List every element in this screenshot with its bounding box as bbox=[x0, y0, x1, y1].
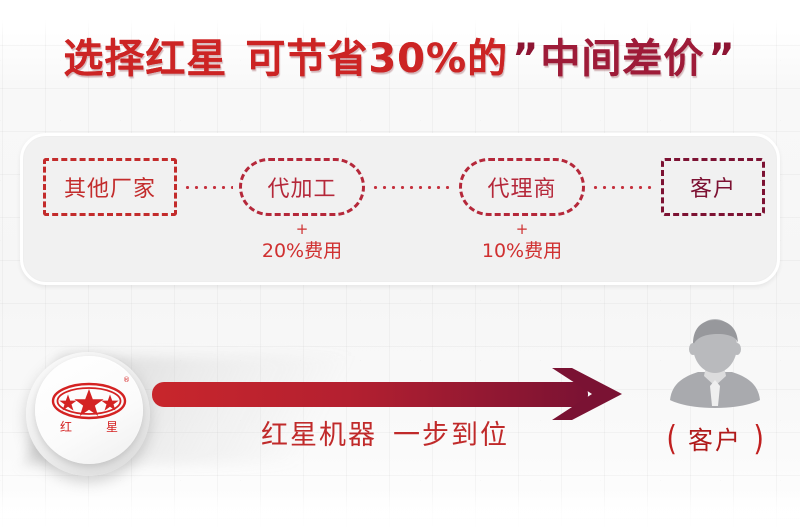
flow-node-label: 代加工 bbox=[267, 171, 336, 203]
quote-open-mark: ” bbox=[508, 36, 540, 82]
fee-amount: 20%费用 bbox=[262, 240, 342, 262]
logo-char-left: 红 bbox=[60, 419, 72, 434]
flow-node-end-customer: 客户 bbox=[661, 158, 765, 216]
headline-part2: 可节省30%的 bbox=[245, 39, 508, 79]
flow-connector-3 bbox=[591, 186, 655, 189]
page-title: 选择红星 可节省30%的 ” 中间差价 ” bbox=[0, 28, 800, 90]
flow-connector-2 bbox=[371, 186, 453, 189]
brand-tagline: 红星机器 一步到位 bbox=[150, 412, 620, 452]
customer-avatar-icon bbox=[660, 316, 770, 420]
flow-node-label: 客户 bbox=[690, 171, 736, 203]
customer-label: 客户 bbox=[688, 421, 742, 457]
middleman-flow-panel: 其他厂家 代加工 代理商 客户 + 20%费用 + 10%费用 bbox=[20, 133, 780, 285]
flow-node-label: 代理商 bbox=[487, 171, 556, 203]
fee-markup-oem: + 20%费用 bbox=[239, 222, 365, 261]
plus-sign-icon: + bbox=[459, 222, 585, 237]
bracket-right-icon: ) bbox=[753, 422, 764, 456]
bracket-left-icon: ( bbox=[666, 422, 677, 456]
flow-node-oem-processing: 代加工 bbox=[239, 158, 365, 216]
quote-close-mark: ” bbox=[704, 36, 736, 82]
flow-node-label: 其他厂家 bbox=[64, 171, 156, 203]
fee-markup-agent: + 10%费用 bbox=[459, 222, 585, 261]
plus-sign-icon: + bbox=[239, 222, 365, 237]
flow-node-other-manufacturer: 其他厂家 bbox=[43, 158, 177, 216]
registered-trademark-icon: ® bbox=[123, 376, 130, 384]
customer-endpoint-label: ( 客户 ) bbox=[640, 418, 790, 460]
bottom-fade-overlay bbox=[0, 490, 800, 530]
headline-emphasis: 中间差价 bbox=[540, 39, 704, 79]
flow-connector-1 bbox=[183, 186, 233, 189]
headline-part1: 选择红星 bbox=[63, 39, 227, 79]
tagline-part2: 一步到位 bbox=[393, 413, 509, 452]
fee-amount: 10%费用 bbox=[482, 240, 562, 262]
logo-char-right: 星 bbox=[106, 420, 118, 434]
tagline-part1: 红星机器 bbox=[261, 413, 377, 452]
hongxing-logo-icon: ® 红 星 bbox=[35, 356, 143, 464]
flow-node-agent-distributor: 代理商 bbox=[459, 158, 585, 216]
poster-canvas: 选择红星 可节省30%的 ” 中间差价 ” 其他厂家 代加工 代理商 客户 + … bbox=[0, 0, 800, 530]
